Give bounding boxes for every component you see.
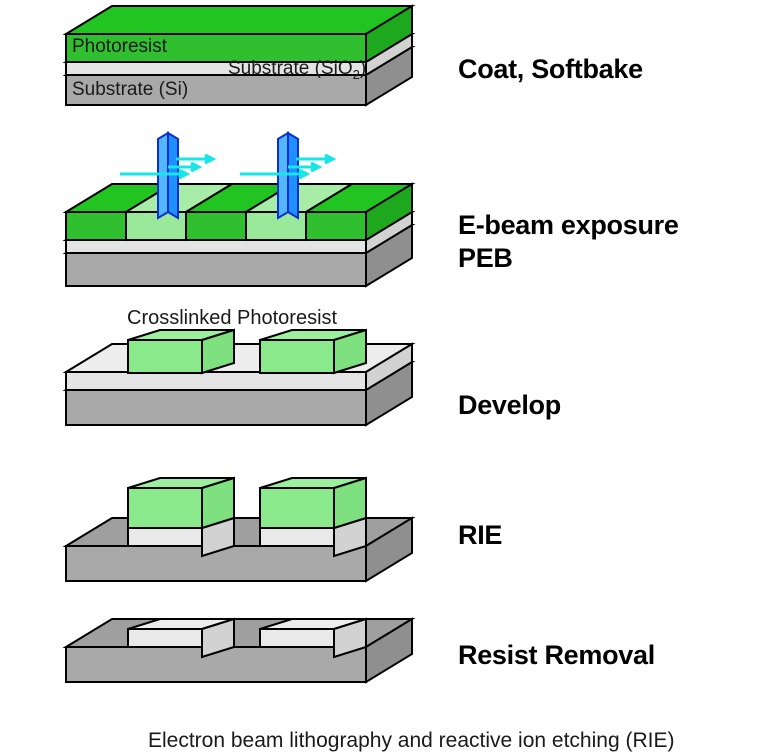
step-label-rie: RIE [458, 519, 502, 552]
resist-mask-feature-2 [260, 478, 366, 528]
resist-mask-feature-1 [128, 478, 234, 528]
layer-label-silicon: Substrate (Si) [72, 79, 188, 101]
step-resist-removal-illustration [66, 619, 412, 682]
layer-label-oxide-text: Substrate (SiO [228, 58, 353, 79]
crosslinked-resist-feature-2 [260, 330, 366, 373]
step-label-resist-removal: Resist Removal [458, 639, 655, 672]
step-label-develop: Develop [458, 389, 561, 422]
step-label-coat-softbake: Coat, Softbake [458, 53, 643, 86]
step-ebeam-exposure-illustration [66, 133, 412, 286]
step-rie-illustration [66, 478, 412, 581]
layer-label-oxide: Substrate (SiO2) [228, 58, 366, 82]
layer-label-photoresist: Photoresist [72, 36, 167, 58]
figure-caption: Electron beam lithography and reactive i… [148, 729, 674, 753]
diagram-canvas [0, 0, 777, 754]
patterned-resist-front-faces [66, 212, 366, 240]
step-develop-illustration [66, 330, 412, 425]
step-label-ebeam-exposure-peb: E-beam exposure PEB [458, 209, 679, 275]
annotation-crosslinked-photoresist: Crosslinked Photoresist [127, 307, 337, 330]
layer-label-oxide-tail: ) [360, 58, 366, 79]
crosslinked-resist-feature-1 [128, 330, 234, 373]
layer-label-oxide-subscript: 2 [353, 67, 360, 82]
process-flow-diagram: Photoresist Substrate (SiO2) Substrate (… [0, 0, 777, 754]
patterned-resist-top-surface [66, 184, 412, 212]
